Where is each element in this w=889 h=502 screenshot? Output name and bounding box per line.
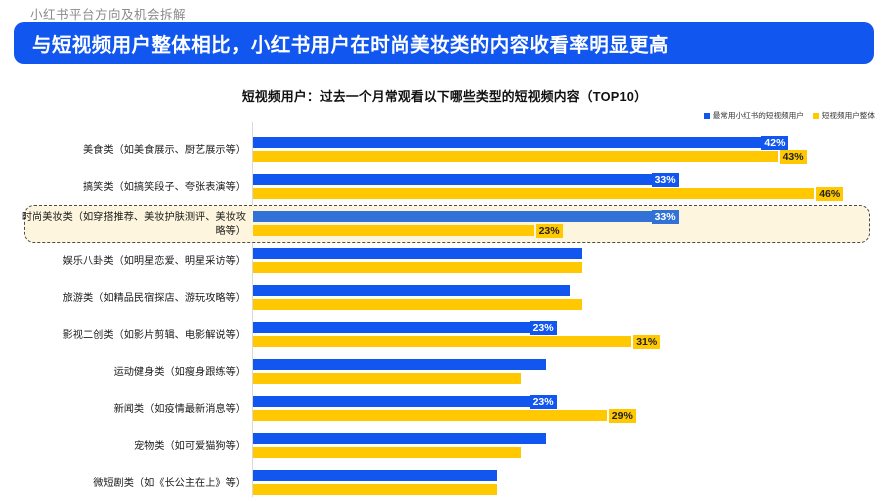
legend-swatch-blue-icon: [704, 113, 710, 119]
chart-row: 宠物类（如可爱猫狗等）: [0, 428, 889, 465]
bar-group: 33% 46%: [253, 173, 889, 203]
category-label: 微短剧类（如《长公主在上》等）: [16, 477, 246, 491]
bar-yellow: [253, 373, 521, 384]
bar-yellow: [253, 410, 607, 421]
bar-group: [253, 247, 889, 277]
headline-banner: 与短视频用户整体相比，小红书用户在时尚美妆类的内容收看率明显更高: [14, 22, 874, 64]
category-label: 宠物类（如可爱猫狗等）: [16, 440, 246, 454]
bar-group: [253, 432, 889, 462]
value-label-blue: 23%: [530, 395, 557, 409]
category-label: 娱乐八卦类（如明星恋爱、明星采访等）: [16, 255, 246, 269]
bar-group: 23% 31%: [253, 321, 889, 351]
category-label: 时尚美妆类（如穿搭推荐、美妆护肤测评、美妆攻略等）: [16, 211, 246, 239]
value-label-yellow: 46%: [816, 187, 843, 201]
plot-area: 美食类（如美食展示、厨艺展示等） 42% 43% 搞笑类（如搞笑段子、夸张表演等…: [0, 122, 889, 500]
chart-row: 影视二创类（如影片剪辑、电影解说等） 23% 31%: [0, 317, 889, 354]
legend-item-overall: 短视频用户整体: [813, 110, 875, 121]
bar-blue: [253, 248, 582, 259]
value-label-yellow: 23%: [536, 224, 563, 238]
bar-blue: [253, 211, 656, 222]
legend-label-blue: 最常用小红书的短视频用户: [713, 110, 804, 121]
bar-yellow: [253, 188, 814, 199]
bar-group: [253, 358, 889, 388]
value-label-yellow: 29%: [609, 409, 636, 423]
value-label-yellow: 31%: [633, 335, 660, 349]
bar-blue: [253, 137, 765, 148]
category-label: 美食类（如美食展示、厨艺展示等）: [16, 144, 246, 158]
headline-text: 与短视频用户整体相比，小红书用户在时尚美妆类的内容收看率明显更高: [32, 29, 669, 58]
legend-label-yellow: 短视频用户整体: [822, 110, 875, 121]
chart-row: 美食类（如美食展示、厨艺展示等） 42% 43%: [0, 132, 889, 169]
bar-blue: [253, 285, 570, 296]
category-label: 新闻类（如疫情最新消息等）: [16, 403, 246, 417]
bar-blue: [253, 322, 534, 333]
bar-group: [253, 284, 889, 314]
legend-item-xiaohongshu: 最常用小红书的短视频用户: [704, 110, 804, 121]
bar-yellow: [253, 225, 534, 236]
value-label-blue: 23%: [530, 321, 557, 335]
category-label: 搞笑类（如搞笑段子、夸张表演等）: [16, 181, 246, 195]
bar-blue: [253, 359, 546, 370]
chart-row: 微短剧类（如《长公主在上》等）: [0, 465, 889, 502]
chart-row-highlighted: 时尚美妆类（如穿搭推荐、美妆护肤测评、美妆攻略等） 33% 23%: [0, 206, 889, 243]
value-label-blue: 33%: [652, 173, 679, 187]
chart-row: 运动健身类（如瘦身跟练等）: [0, 354, 889, 391]
value-label-blue: 42%: [761, 136, 788, 150]
bar-yellow: [253, 447, 521, 458]
bar-blue: [253, 433, 546, 444]
bar-yellow: [253, 484, 497, 495]
bar-yellow: [253, 336, 631, 347]
chart-title: 短视频用户：过去一个月常观看以下哪些类型的短视频内容（TOP10）: [0, 86, 889, 105]
bar-yellow: [253, 299, 582, 310]
bar-group: 33% 23%: [253, 210, 889, 240]
chart-legend: 最常用小红书的短视频用户 短视频用户整体: [704, 110, 875, 121]
bar-yellow: [253, 262, 582, 273]
bar-yellow: [253, 151, 778, 162]
bar-blue: [253, 174, 656, 185]
eyebrow-title: 小红书平台方向及机会拆解: [30, 4, 186, 23]
category-label: 运动健身类（如瘦身跟练等）: [16, 366, 246, 380]
legend-swatch-yellow-icon: [813, 113, 819, 119]
category-label: 旅游类（如精品民宿探店、游玩攻略等）: [16, 292, 246, 306]
chart-row: 新闻类（如疫情最新消息等） 23% 29%: [0, 391, 889, 428]
bar-group: 23% 29%: [253, 395, 889, 425]
bar-blue: [253, 396, 534, 407]
bar-blue: [253, 470, 497, 481]
category-label: 影视二创类（如影片剪辑、电影解说等）: [16, 329, 246, 343]
chart-container: 短视频用户：过去一个月常观看以下哪些类型的短视频内容（TOP10） 最常用小红书…: [0, 70, 889, 500]
chart-row: 旅游类（如精品民宿探店、游玩攻略等）: [0, 280, 889, 317]
chart-row: 娱乐八卦类（如明星恋爱、明星采访等）: [0, 243, 889, 280]
bar-group: 42% 43%: [253, 136, 889, 166]
bar-group: [253, 469, 889, 499]
chart-row: 搞笑类（如搞笑段子、夸张表演等） 33% 46%: [0, 169, 889, 206]
value-label-yellow: 43%: [780, 150, 807, 164]
value-label-blue: 33%: [652, 210, 679, 224]
